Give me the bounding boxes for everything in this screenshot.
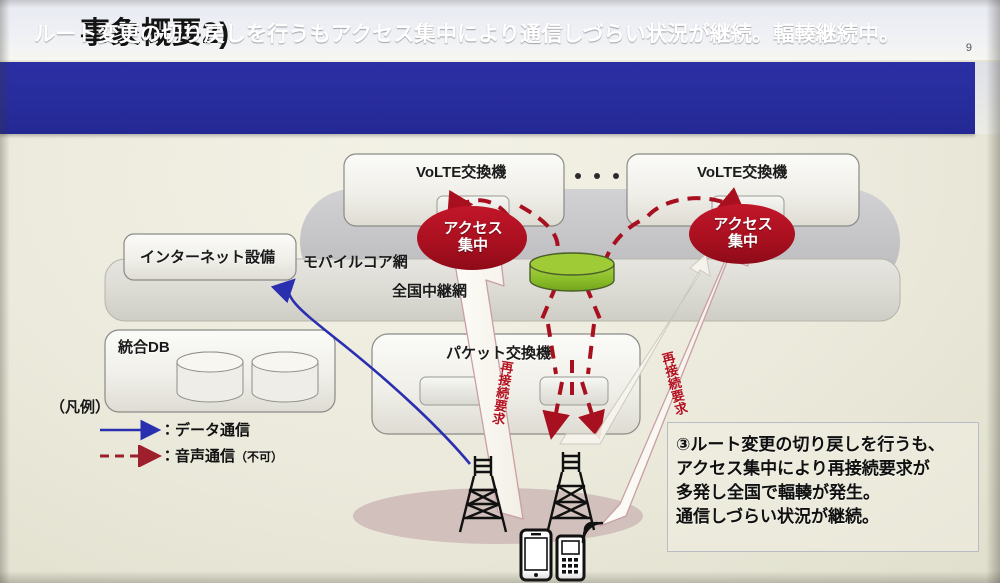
packet-switch-label: パケット交換機 xyxy=(446,342,551,363)
cell-tower-icon-left xyxy=(460,456,506,532)
access-congestion-right-label: アクセス集中 xyxy=(704,216,782,250)
legend: （凡例） ：データ通信 ：音声通信（不可） xyxy=(50,396,110,469)
legend-item-data: ：データ通信 xyxy=(50,417,110,443)
legend-title: （凡例） xyxy=(50,396,110,417)
volte-switch-right-label: VoLTE交換機 xyxy=(697,161,787,182)
volte-switch-left-label: VoLTE交換機 xyxy=(416,161,506,182)
slide: 事象概要2) 9 ルート変更の切り戻しを行うもアクセス集中により通信しづらい状況… xyxy=(0,0,1000,583)
callout-line-4: 通信しづらい状況が継続。 xyxy=(676,505,976,529)
wifi-signal-icon xyxy=(583,523,602,542)
smartphone-icon xyxy=(521,530,551,580)
callout-line-2: アクセス集中により再接続要求が xyxy=(676,457,976,481)
summary-banner xyxy=(0,62,975,134)
page-number: 9 xyxy=(966,42,972,54)
callout-line-1: ③ルート変更の切り戻しを行うも、 xyxy=(676,433,976,457)
internet-equipment-label: インターネット設備 xyxy=(140,246,275,267)
access-congestion-left-label: アクセス集中 xyxy=(434,220,512,254)
feature-phone-icon xyxy=(557,536,584,580)
integrated-db-label: 統合DB xyxy=(118,336,170,357)
banner-right-edge xyxy=(975,62,1000,134)
mobile-core-network-label: モバイルコア網 xyxy=(303,251,408,272)
callout-text: ③ルート変更の切り戻しを行うも、 アクセス集中により再接続要求が 多発し全国で輻… xyxy=(676,433,976,529)
nationwide-transit-label: 全国中継網 xyxy=(392,280,467,301)
network-diagram: VoLTE交換機 VoLTE交換機 アクセス集中 アクセス集中 インターネット設… xyxy=(0,134,1000,583)
legend-item-voice: ：音声通信（不可） xyxy=(50,443,110,469)
summary-banner-text: ルート変更の切り戻しを行うもアクセス集中により通信しづらい状況が継続。輻輳継続中… xyxy=(34,18,954,48)
legend-voice-label: ：音声通信（不可） xyxy=(160,445,283,466)
callout-line-3: 多発し全国で輻輳が発生。 xyxy=(676,481,976,505)
cell-tower-icon-right xyxy=(548,452,594,530)
callout-box: ③ルート変更の切り戻しを行うも、 アクセス集中により再接続要求が 多発し全国で輻… xyxy=(667,422,979,552)
legend-data-label: ：データ通信 xyxy=(160,419,250,440)
